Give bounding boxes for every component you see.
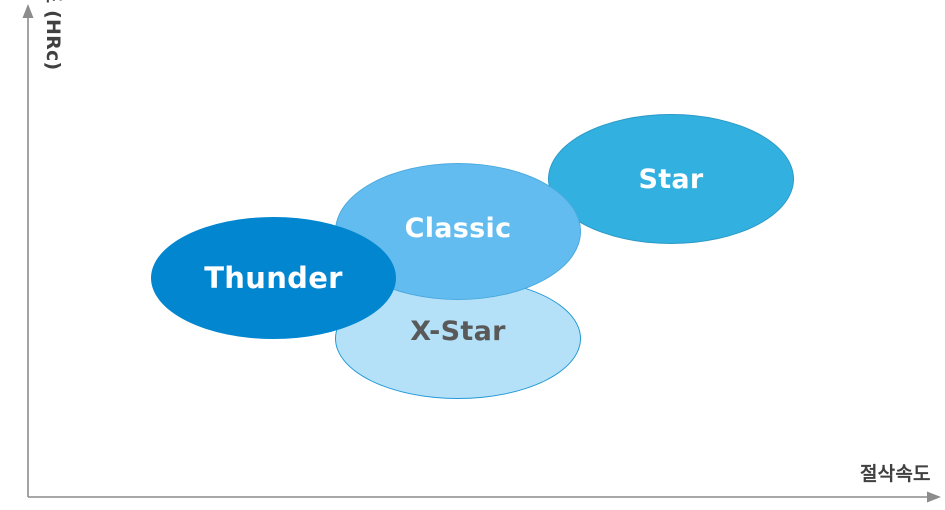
y-axis-arrowhead [23, 4, 34, 18]
bubble-label-x-star: X-Star [410, 316, 506, 347]
bubble-label-thunder: Thunder [204, 261, 343, 295]
bubble-label-classic: Classic [405, 213, 512, 244]
y-axis-label: 경도 (HRc) [44, 0, 68, 82]
chart-canvas: 경도 (HRc) 절삭속도 X-Star Star Classic Thunde… [0, 0, 945, 510]
x-axis-arrowhead [927, 492, 941, 503]
bubble-star[interactable]: Star [548, 114, 794, 244]
bubble-thunder[interactable]: Thunder [151, 217, 396, 339]
bubble-label-star: Star [638, 164, 703, 195]
x-axis-label: 절삭속도 [860, 459, 931, 486]
